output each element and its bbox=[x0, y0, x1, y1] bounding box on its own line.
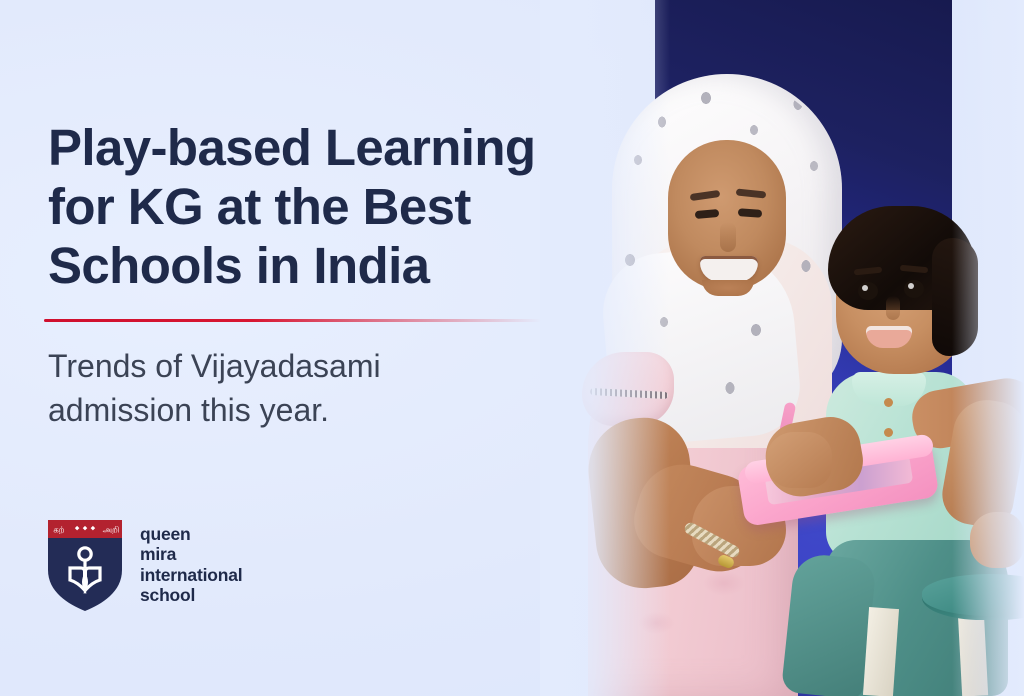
school-crest-icon: கற் அறி bbox=[46, 518, 124, 613]
svg-text:அறி: அறி bbox=[103, 525, 120, 535]
woman-smile bbox=[700, 256, 758, 282]
school-name-line-3: international bbox=[140, 565, 242, 585]
school-name-line-2: mira bbox=[140, 544, 242, 564]
child-nose bbox=[886, 296, 900, 320]
woman-eye-right bbox=[738, 208, 762, 218]
photo-subject-group bbox=[540, 0, 1024, 696]
page-title: Play-based Learning for KG at the Best S… bbox=[48, 118, 608, 295]
promo-banner: Play-based Learning for KG at the Best S… bbox=[0, 0, 1024, 696]
svg-text:கற்: கற் bbox=[53, 525, 64, 535]
child-eye-right bbox=[904, 280, 924, 298]
child-hand-right bbox=[970, 512, 1024, 568]
child-leg-left bbox=[781, 552, 877, 696]
child-eye-left bbox=[858, 282, 878, 300]
school-logo[interactable]: கற் அறி queen mira interna bbox=[46, 518, 242, 613]
woman-nose bbox=[720, 222, 736, 252]
woman-chin bbox=[702, 280, 754, 296]
child-smile bbox=[866, 326, 912, 348]
child-hand-holding-stylus bbox=[766, 432, 832, 488]
child-button-bottom bbox=[884, 428, 893, 437]
school-name: queen mira international school bbox=[140, 518, 242, 605]
page-subtitle: Trends of Vijayadasami admission this ye… bbox=[48, 345, 518, 432]
child-hair-side bbox=[932, 238, 978, 356]
child-button-top bbox=[884, 398, 893, 407]
school-name-line-4: school bbox=[140, 585, 242, 605]
stool-leg-right bbox=[958, 611, 988, 696]
stool-leg-left bbox=[863, 607, 899, 696]
accent-divider bbox=[44, 319, 541, 322]
school-name-line-1: queen bbox=[140, 524, 242, 544]
